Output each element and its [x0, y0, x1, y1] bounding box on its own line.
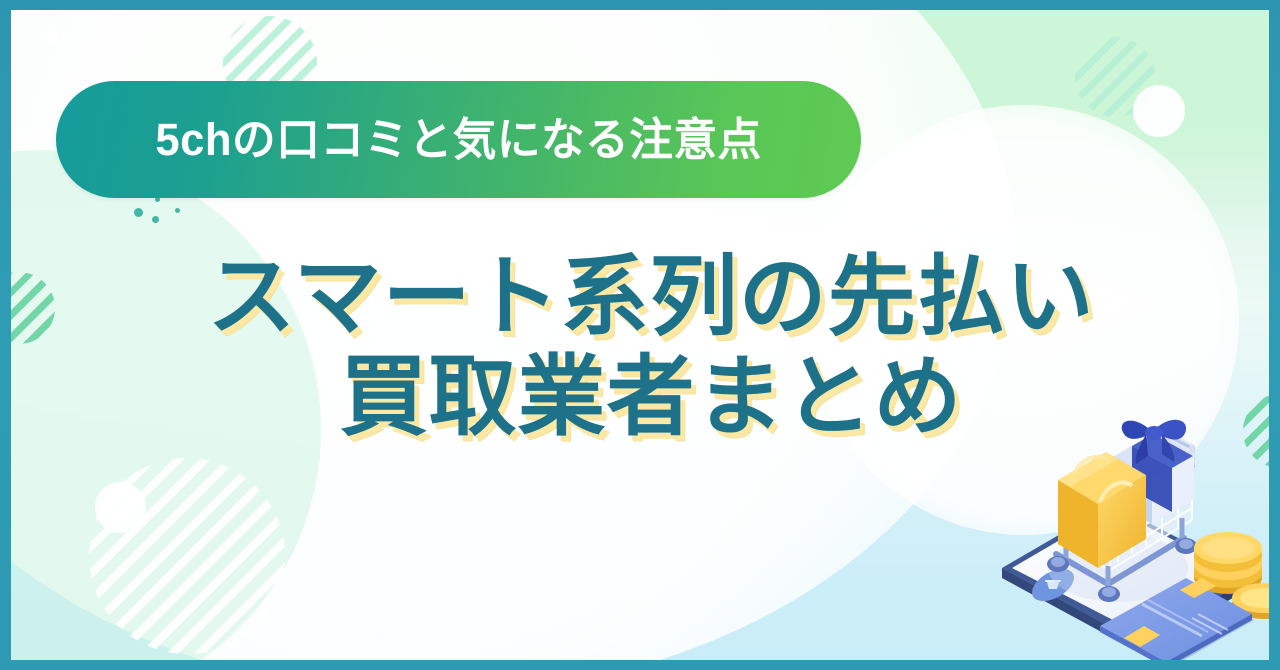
banner-canvas: 5chの口コミと気になる注意点 スマート系列の先払い 買取業者まとめ [11, 10, 1269, 660]
teal-dot-decoration [152, 216, 159, 223]
subtitle-pill-banner: 5chの口コミと気になる注意点 [56, 81, 861, 198]
teal-dot-decoration [134, 208, 143, 217]
white-circle-top-right-decoration [1133, 85, 1185, 137]
teal-dot-decoration [175, 208, 180, 213]
shopping-illustration [996, 408, 1269, 660]
white-dot-top-left-decoration [47, 31, 58, 42]
eyecatch-banner: 5chの口コミと気になる注意点 スマート系列の先払い 買取業者まとめ [0, 0, 1280, 670]
subtitle-text: 5chの口コミと気になる注意点 [155, 117, 761, 162]
page-title-line-1: スマート系列の先払い [11, 246, 1269, 348]
white-circle-bottom-left-decoration [95, 482, 146, 533]
